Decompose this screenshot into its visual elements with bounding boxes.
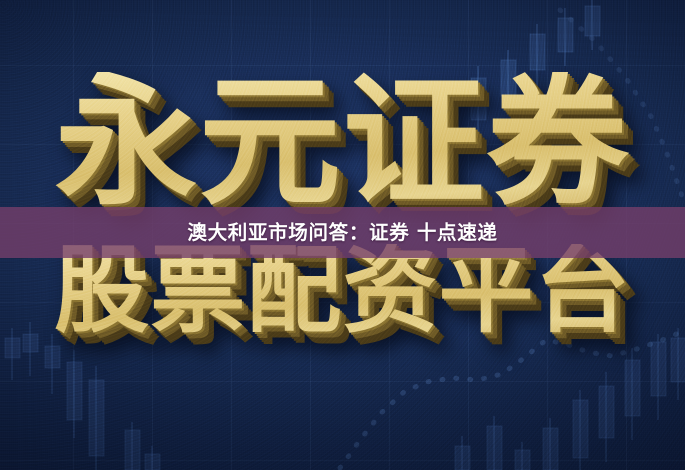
caption-text: 澳大利亚市场问答：证券 十点速递 — [187, 223, 497, 243]
brand-title-line-1: 永元证券 — [0, 72, 685, 214]
caption-band: 澳大利亚市场问答：证券 十点速递 — [0, 207, 685, 258]
promo-banner: 永元证券 股票配资平台 澳大利亚市场问答：证券 十点速递 — [0, 0, 685, 470]
brand-title-line-2: 股票配资平台 — [0, 244, 685, 339]
